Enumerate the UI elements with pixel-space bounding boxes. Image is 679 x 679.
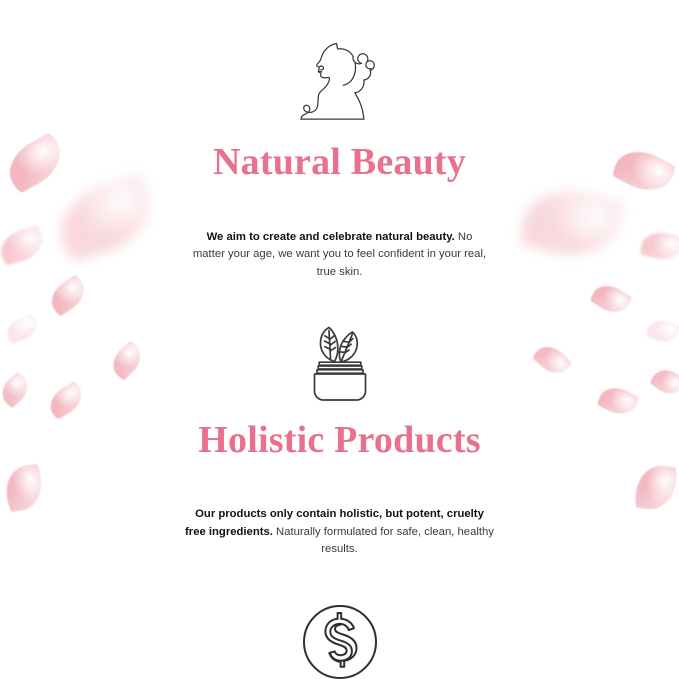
dollar-sign-circle-icon	[300, 602, 380, 679]
sections-container: Natural Beauty We aim to create and cele…	[0, 0, 679, 679]
section-accessibility: Accessibility Quality skincare products …	[0, 570, 679, 679]
section-body: Our products only contain holistic, but …	[185, 506, 495, 559]
cream-jar-with-leaves-icon	[294, 326, 386, 402]
section-body-rest: Naturally formulated for safe, clean, he…	[273, 526, 494, 556]
section-body: We aim to create and celebrate natural b…	[190, 229, 490, 282]
woman-profile-line-icon	[292, 34, 388, 126]
section-holistic-products: Holistic Products Our products only cont…	[0, 293, 679, 571]
section-heading: Natural Beauty	[213, 143, 466, 181]
section-body-bold: We aim to create and celebrate natural b…	[207, 231, 455, 243]
section-natural-beauty: Natural Beauty We aim to create and cele…	[0, 0, 679, 293]
infographic-canvas: Natural Beauty We aim to create and cele…	[0, 0, 679, 679]
section-heading: Holistic Products	[198, 421, 480, 459]
